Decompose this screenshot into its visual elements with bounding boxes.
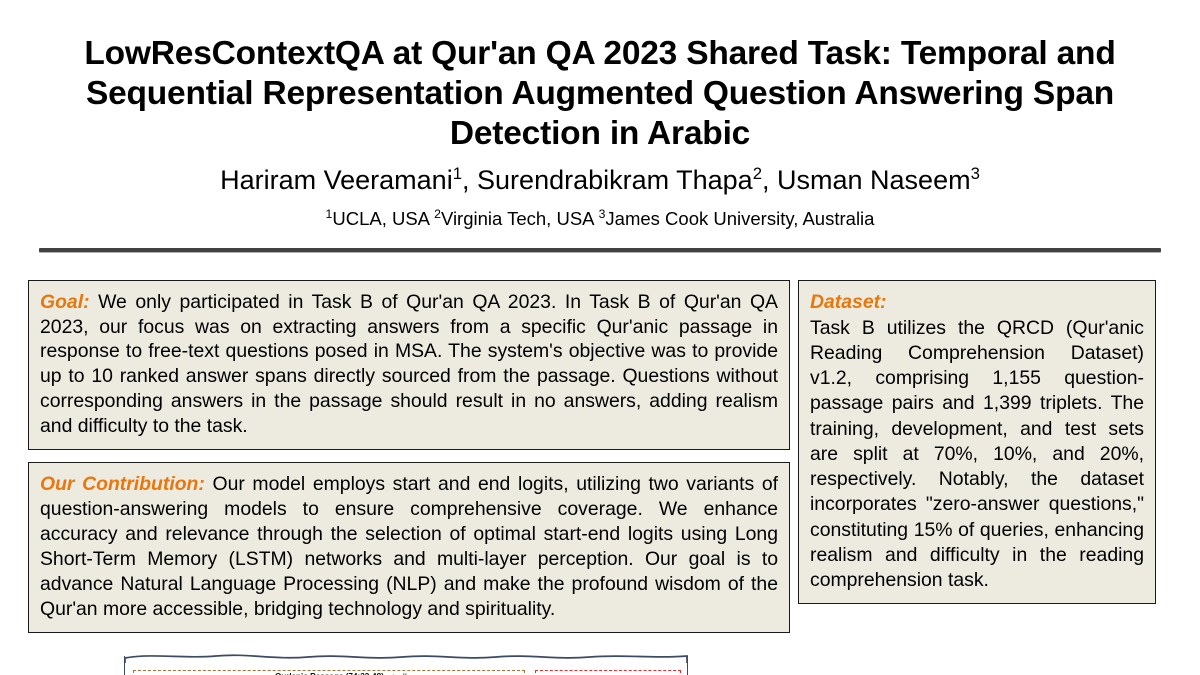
goal-panel: Goal: We only participated in Task B of …: [28, 280, 790, 451]
dataset-panel: Dataset:Task B utilizes the QRCD (Qur'an…: [798, 280, 1156, 605]
goal-text: Goal: We only participated in Task B of …: [40, 290, 778, 440]
affiliation-marker-2: 2: [434, 207, 441, 221]
author-marker-1: 1: [453, 164, 462, 183]
affiliation-list: 1UCLA, USA 2Virginia Tech, USA 3James Co…: [30, 209, 1170, 229]
author-name-2: Surendrabikram Thapa: [477, 165, 753, 195]
contribution-label: Our Contribution:: [40, 473, 205, 495]
affiliation-text-1: UCLA, USA: [332, 208, 429, 229]
dataset-text: Dataset:Task B utilizes the QRCD (Qur'an…: [810, 290, 1144, 594]
author-marker-3: 3: [971, 164, 980, 183]
torn-edge-icon: [124, 650, 690, 664]
affiliation-text-3: James Cook University, Australia: [605, 208, 874, 229]
figure-torn-top-edge: [124, 650, 690, 664]
contribution-panel: Our Contribution: Our model employs star…: [28, 462, 790, 633]
author-name-3: Usman Naseem: [777, 165, 971, 195]
architecture-figure: Qur'anic Passage (74:32-48)سورة المدثر: [124, 650, 690, 675]
author-marker-2: 2: [753, 164, 762, 183]
author-name-1: Hariram Veeramani: [220, 165, 453, 195]
affiliation-text-2: Virginia Tech, USA: [441, 208, 594, 229]
right-column: Dataset:Task B utilizes the QRCD (Qur'an…: [798, 280, 1156, 605]
poster-body: Goal: We only participated in Task B of …: [0, 280, 1200, 633]
dataset-label: Dataset:: [810, 290, 1144, 315]
page-title: LowResContextQA at Qur'an QA 2023 Shared…: [30, 34, 1170, 155]
poster-header: LowResContextQA at Qur'an QA 2023 Shared…: [0, 0, 1200, 252]
header-divider: [39, 248, 1161, 252]
dataset-body: Task B utilizes the QRCD (Qur'anic Readi…: [810, 317, 1144, 591]
contribution-text: Our Contribution: Our model employs star…: [40, 472, 778, 622]
goal-label: Goal:: [40, 291, 90, 313]
goal-body: We only participated in Task B of Qur'an…: [40, 291, 778, 438]
author-list: Hariram Veeramani1, Surendrabikram Thapa…: [30, 166, 1170, 196]
question-region-box: [535, 670, 681, 675]
left-column: Goal: We only participated in Task B of …: [28, 280, 790, 633]
